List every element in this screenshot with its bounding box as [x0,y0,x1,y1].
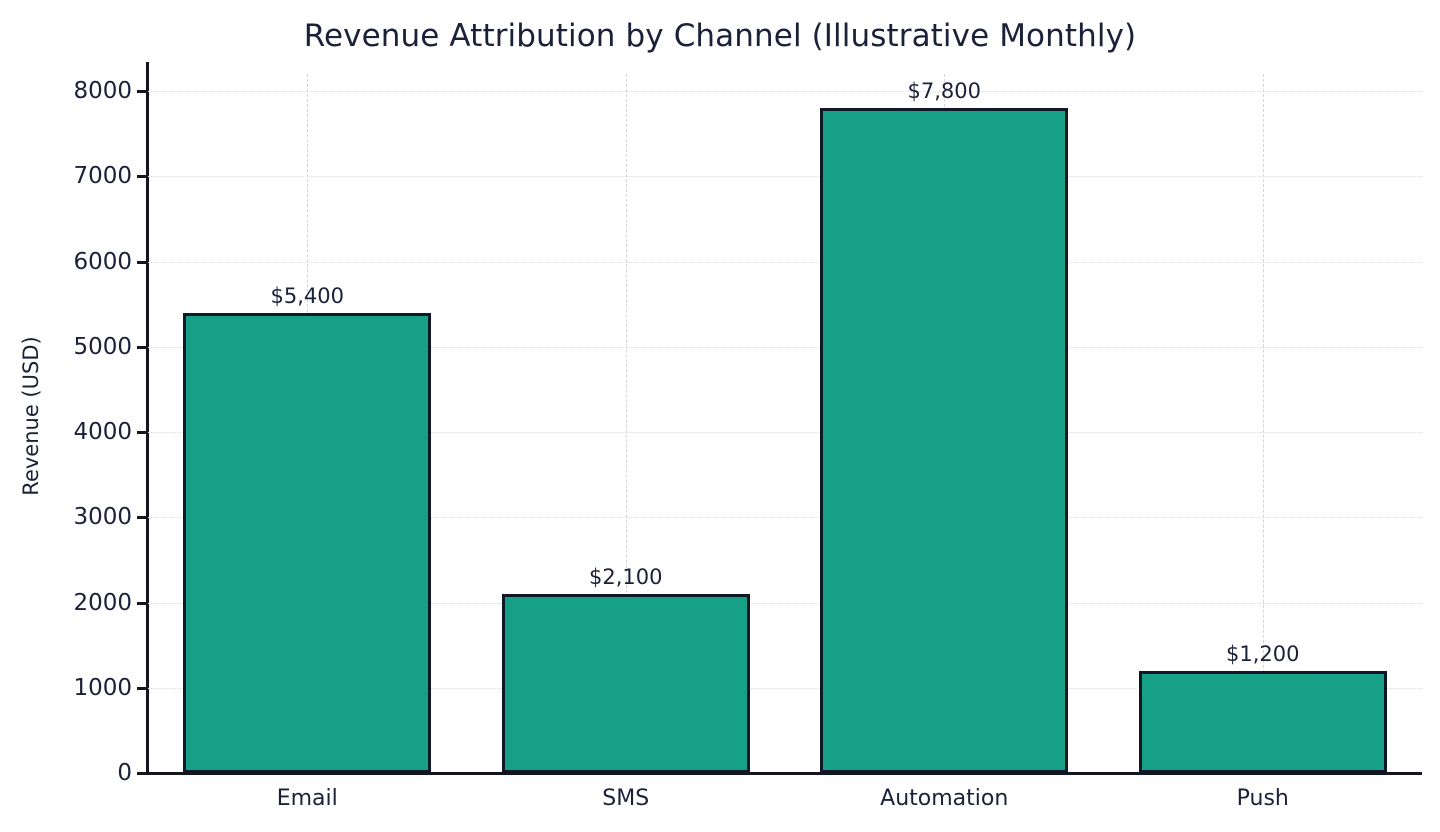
y-tick-mark [137,431,146,434]
gridline-horizontal [148,262,1422,263]
bar-automation[interactable] [820,108,1068,773]
y-axis-label: Revenue (USD) [16,0,46,832]
y-tick-label: 8000 [12,80,132,103]
y-tick-mark [137,687,146,690]
chart-title: Revenue Attribution by Channel (Illustra… [0,18,1440,54]
y-tick-label: 3000 [12,506,132,529]
y-tick-label: 0 [12,762,132,785]
gridline-horizontal [148,91,1422,92]
y-tick-label: 7000 [12,165,132,188]
y-tick-label: 2000 [12,592,132,615]
bar-value-label: $5,400 [183,286,431,307]
x-tick-label-email: Email [148,788,467,810]
y-tick-label: 6000 [12,251,132,274]
bar-sms[interactable] [502,594,750,773]
gridline-vertical [1263,74,1264,773]
plot-area: 010002000300040005000600070008000 $5,400… [148,74,1422,773]
y-tick-mark [137,346,146,349]
bar-push[interactable] [1139,671,1387,773]
y-tick-mark [137,602,146,605]
y-axis-spine [146,62,149,775]
x-tick-label-sms: SMS [467,788,786,810]
chart-figure: Revenue Attribution by Channel (Illustra… [0,0,1440,832]
bar-value-label: $1,200 [1139,644,1387,665]
y-tick-label: 1000 [12,677,132,700]
bar-value-label: $2,100 [502,567,750,588]
x-tick-label-push: Push [1104,788,1423,810]
y-tick-mark [137,772,146,775]
y-tick-mark [137,175,146,178]
gridline-horizontal [148,176,1422,177]
y-tick-mark [137,90,146,93]
bar-value-label: $7,800 [820,81,1068,102]
x-tick-label-automation: Automation [785,788,1104,810]
y-tick-label: 4000 [12,421,132,444]
y-tick-mark [137,516,146,519]
y-tick-mark [137,261,146,264]
y-tick-label: 5000 [12,336,132,359]
bar-email[interactable] [183,313,431,773]
